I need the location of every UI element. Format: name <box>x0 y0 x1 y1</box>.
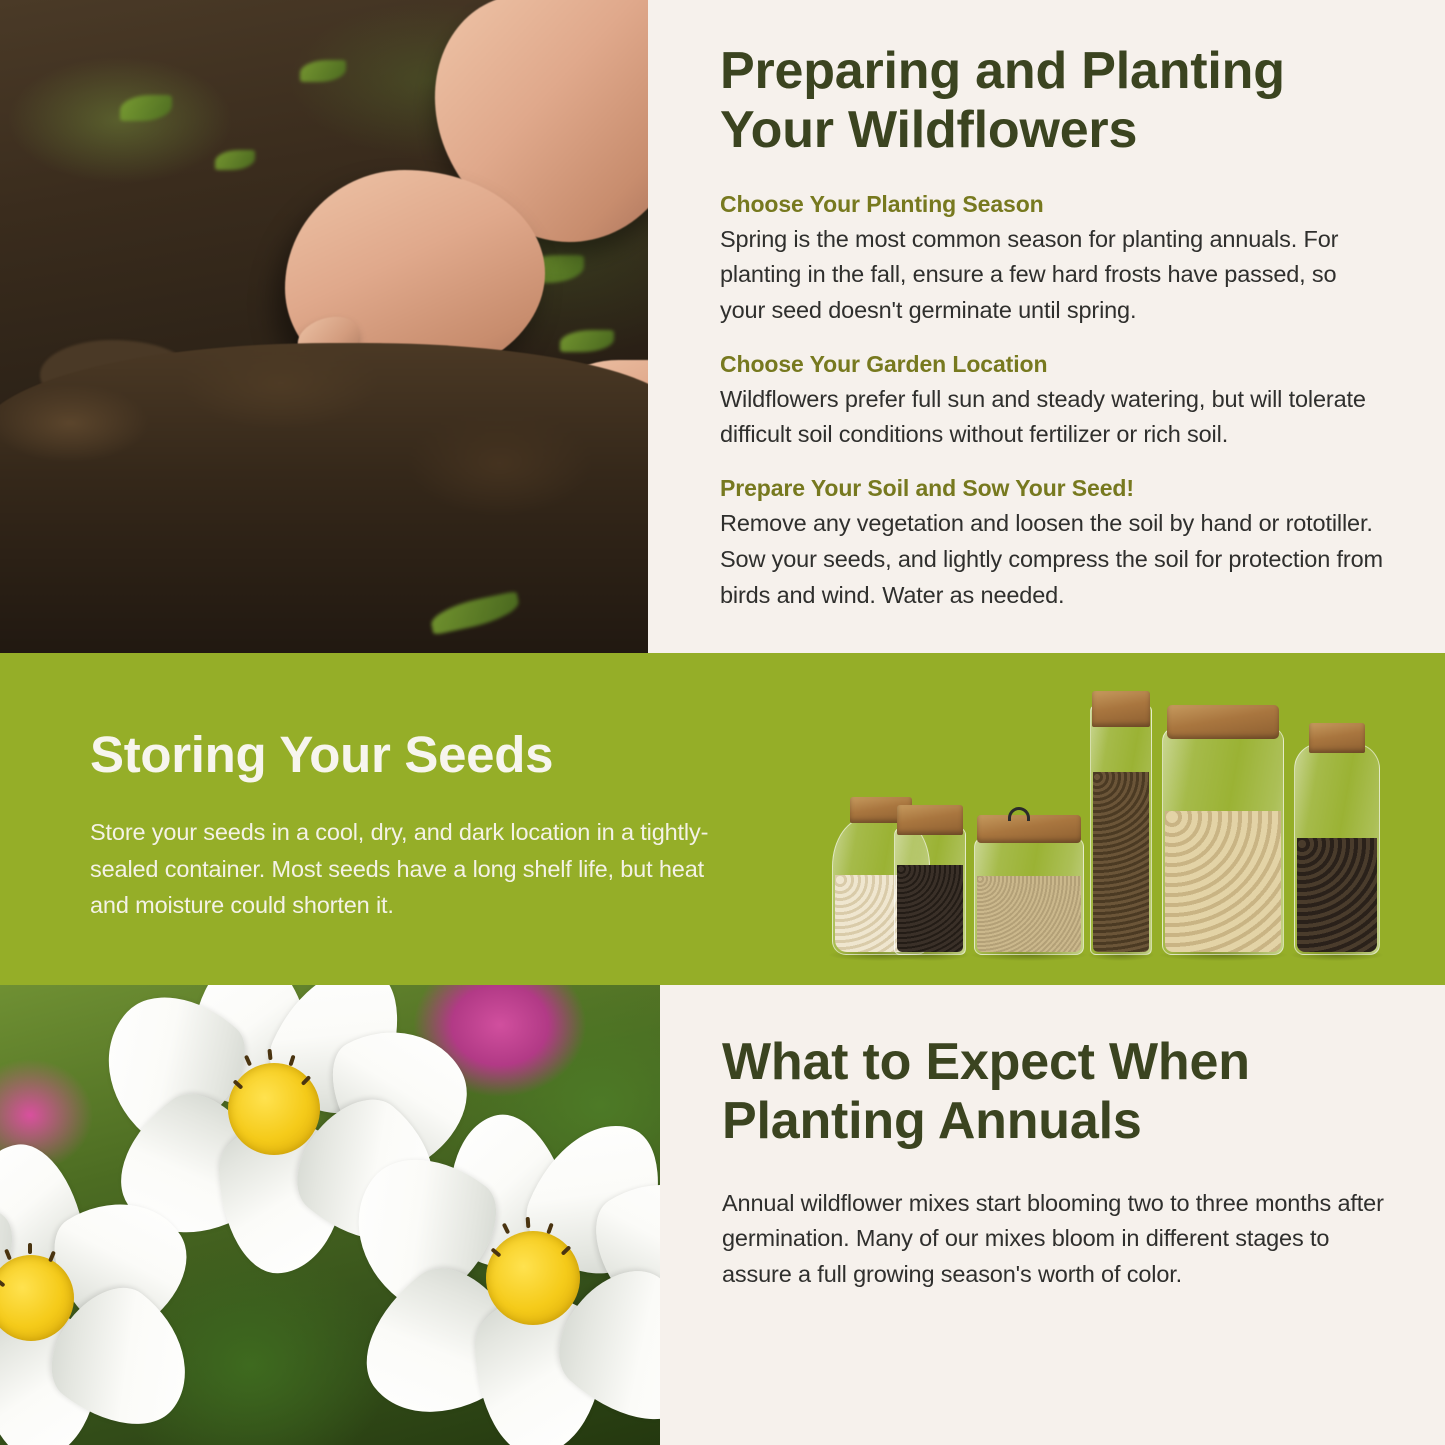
soil-planting-photo <box>0 0 648 653</box>
jar-pumpkin-seeds <box>1162 727 1284 955</box>
section-heading: Choose Your Planting Season <box>720 191 1387 218</box>
expect-body: Annual wildflower mixes start blooming t… <box>722 1186 1385 1293</box>
soil-mound <box>0 343 648 653</box>
jar-beige-grain <box>974 837 1084 955</box>
expect-title: What to Expect When Planting Annuals <box>722 1033 1385 1152</box>
jar-dark-seed <box>894 827 966 955</box>
section-garden-location: Choose Your Garden Location Wildflowers … <box>720 351 1387 453</box>
section-body: Remove any vegetation and loosen the soi… <box>720 506 1387 613</box>
section-prepare-soil: Prepare Your Soil and Sow Your Seed! Rem… <box>720 475 1387 613</box>
flower-right <box>330 1115 660 1445</box>
jar-sunflower-seeds <box>1294 743 1380 955</box>
section-heading: Prepare Your Soil and Sow Your Seed! <box>720 475 1387 502</box>
storing-title: Storing Your Seeds <box>90 725 720 784</box>
cosmos-flowers-photo <box>0 985 660 1445</box>
section-heading: Choose Your Garden Location <box>720 351 1387 378</box>
storing-body: Store your seeds in a cool, dry, and dar… <box>90 814 720 924</box>
page-title: Preparing and Planting Your Wildflowers <box>720 42 1387 161</box>
flower-left <box>0 1145 200 1445</box>
intro-text-panel: Preparing and Planting Your Wildflowers … <box>648 0 1445 653</box>
what-to-expect-panel: What to Expect When Planting Annuals Ann… <box>660 985 1445 1445</box>
seed-jars-photo <box>832 690 1392 955</box>
jar-tall-brown-seed <box>1090 705 1152 955</box>
section-body: Spring is the most common season for pla… <box>720 222 1387 329</box>
section-planting-season: Choose Your Planting Season Spring is th… <box>720 191 1387 329</box>
section-body: Wildflowers prefer full sun and steady w… <box>720 382 1387 453</box>
infographic-page: Preparing and Planting Your Wildflowers … <box>0 0 1445 1445</box>
